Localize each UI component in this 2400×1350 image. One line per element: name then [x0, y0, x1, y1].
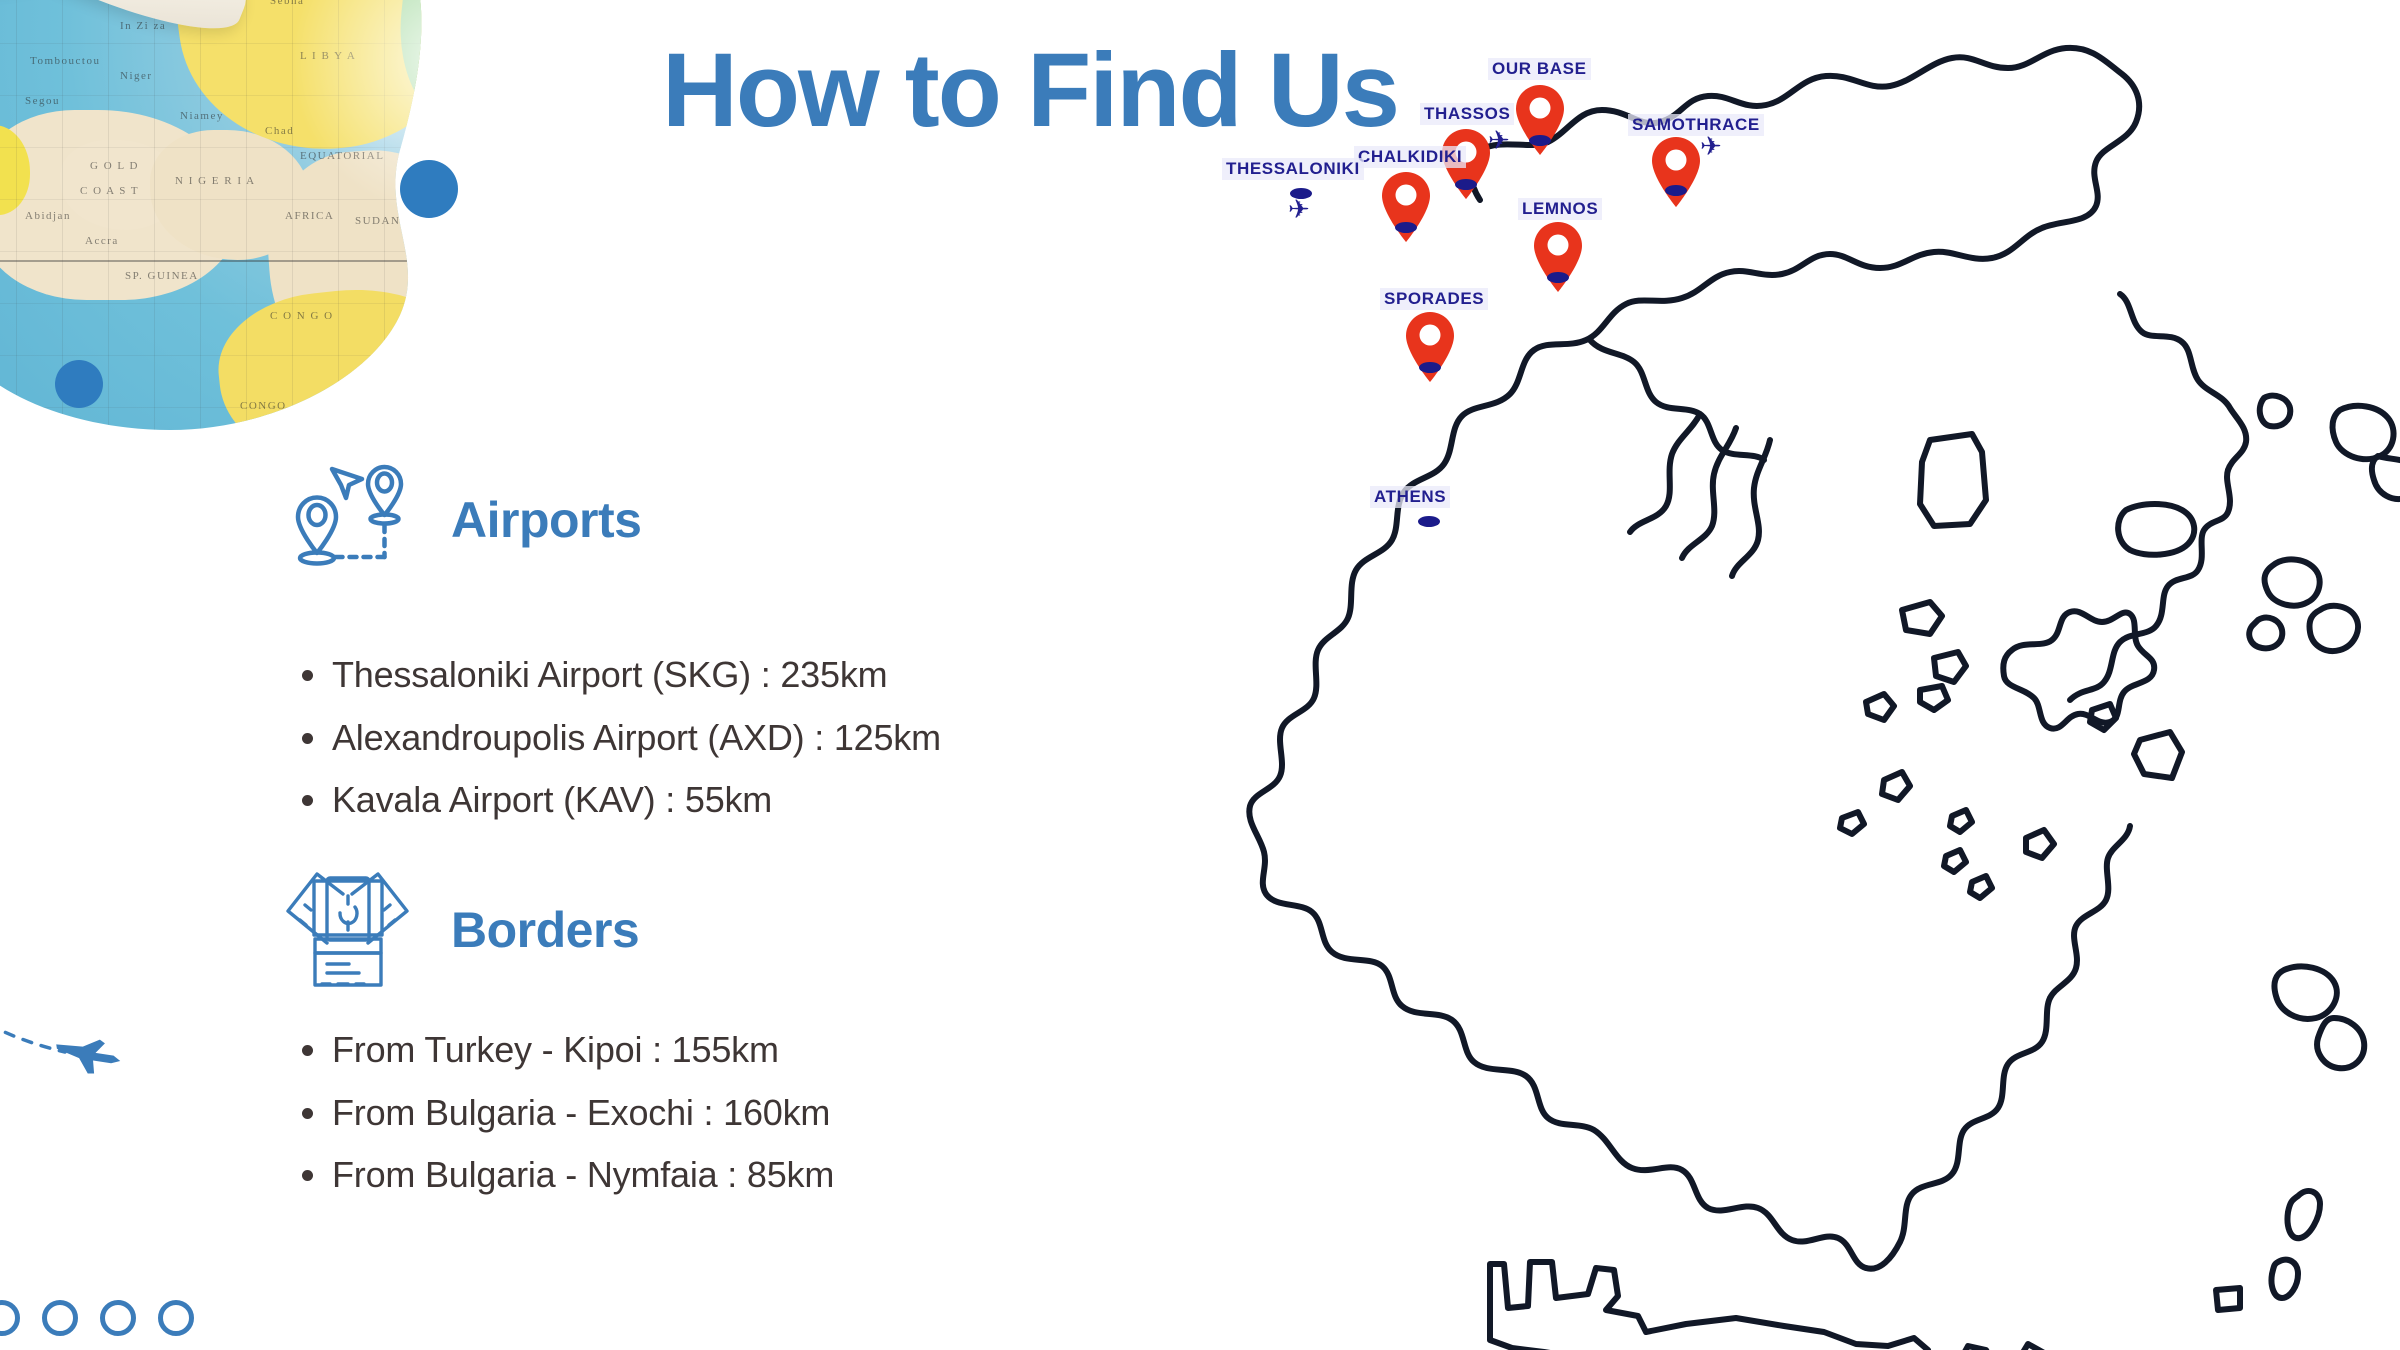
section-airports-title: Airports — [451, 491, 641, 549]
map-label-samothrace: SAMOTHRACE — [1628, 114, 1764, 136]
toy-airplane — [0, 0, 280, 120]
map-dot-chalkidiki — [1395, 222, 1417, 233]
list-item: Alexandroupolis Airport (AXD) : 125km — [290, 718, 941, 758]
ring-icon — [42, 1300, 78, 1336]
list-item: Kavala Airport (KAV) : 55km — [290, 780, 941, 820]
airplane-icon: ✈ — [1700, 133, 1722, 159]
list-item: From Bulgaria - Nymfaia : 85km — [290, 1155, 834, 1195]
map-label-lemnos: LEMNOS — [1518, 198, 1602, 220]
map-label-our-base: OUR BASE — [1488, 58, 1591, 80]
list-item: From Turkey - Kipoi : 155km — [290, 1030, 834, 1070]
map-label-thessaloniki: THESSALONIKI — [1222, 158, 1364, 180]
map-label-chalkidiki: CHALKIDIKI — [1354, 146, 1466, 168]
airplane-icon: ✈ — [1288, 196, 1310, 222]
map-dot-lemnos — [1547, 272, 1569, 283]
slide-root: In Zi za Sebha Sirte L I B Y A E G Y P T… — [0, 0, 2400, 1350]
globe-land-arabia — [445, 60, 570, 329]
decor-rings — [0, 1300, 194, 1336]
map-dot-sporades — [1419, 362, 1441, 373]
section-airports: Airports — [270, 455, 641, 585]
airplane-trail-decor — [0, 940, 220, 1080]
airports-list: Thessaloniki Airport (SKG) : 235km Alexa… — [290, 655, 941, 843]
section-airports-header: Airports — [270, 455, 641, 585]
map-label-thassos: THASSOS — [1420, 103, 1514, 125]
map-dot-samothrace — [1665, 185, 1687, 196]
list-item: Thessaloniki Airport (SKG) : 235km — [290, 655, 941, 695]
map-dot-thassos — [1455, 179, 1477, 190]
decor-dot-lower — [55, 360, 103, 408]
section-borders: Borders — [270, 865, 639, 995]
section-borders-title: Borders — [451, 901, 639, 959]
decor-dot-upper — [400, 160, 458, 218]
section-borders-header: Borders — [270, 865, 639, 995]
ring-icon — [0, 1300, 20, 1336]
map-pins-route-icon — [270, 455, 425, 585]
passport-documents-icon — [270, 865, 425, 995]
ring-icon — [100, 1300, 136, 1336]
map-dot-our-base — [1529, 135, 1551, 146]
airplane-icon: ✈ — [1488, 127, 1510, 153]
list-item: From Bulgaria - Exochi : 160km — [290, 1093, 834, 1133]
map-pin-samothrace — [1648, 135, 1704, 209]
airplane-icon — [51, 1027, 125, 1080]
greece-map: OUR BASE THASSOS ✈ SAMOTHRACE ✈ CHALKIDI… — [1230, 10, 2400, 1350]
map-dot-athens — [1418, 516, 1440, 527]
map-label-sporades: SPORADES — [1380, 288, 1488, 310]
map-label-athens: ATHENS — [1370, 486, 1450, 508]
borders-list: From Turkey - Kipoi : 155km From Bulgari… — [290, 1030, 834, 1218]
ring-icon — [158, 1300, 194, 1336]
